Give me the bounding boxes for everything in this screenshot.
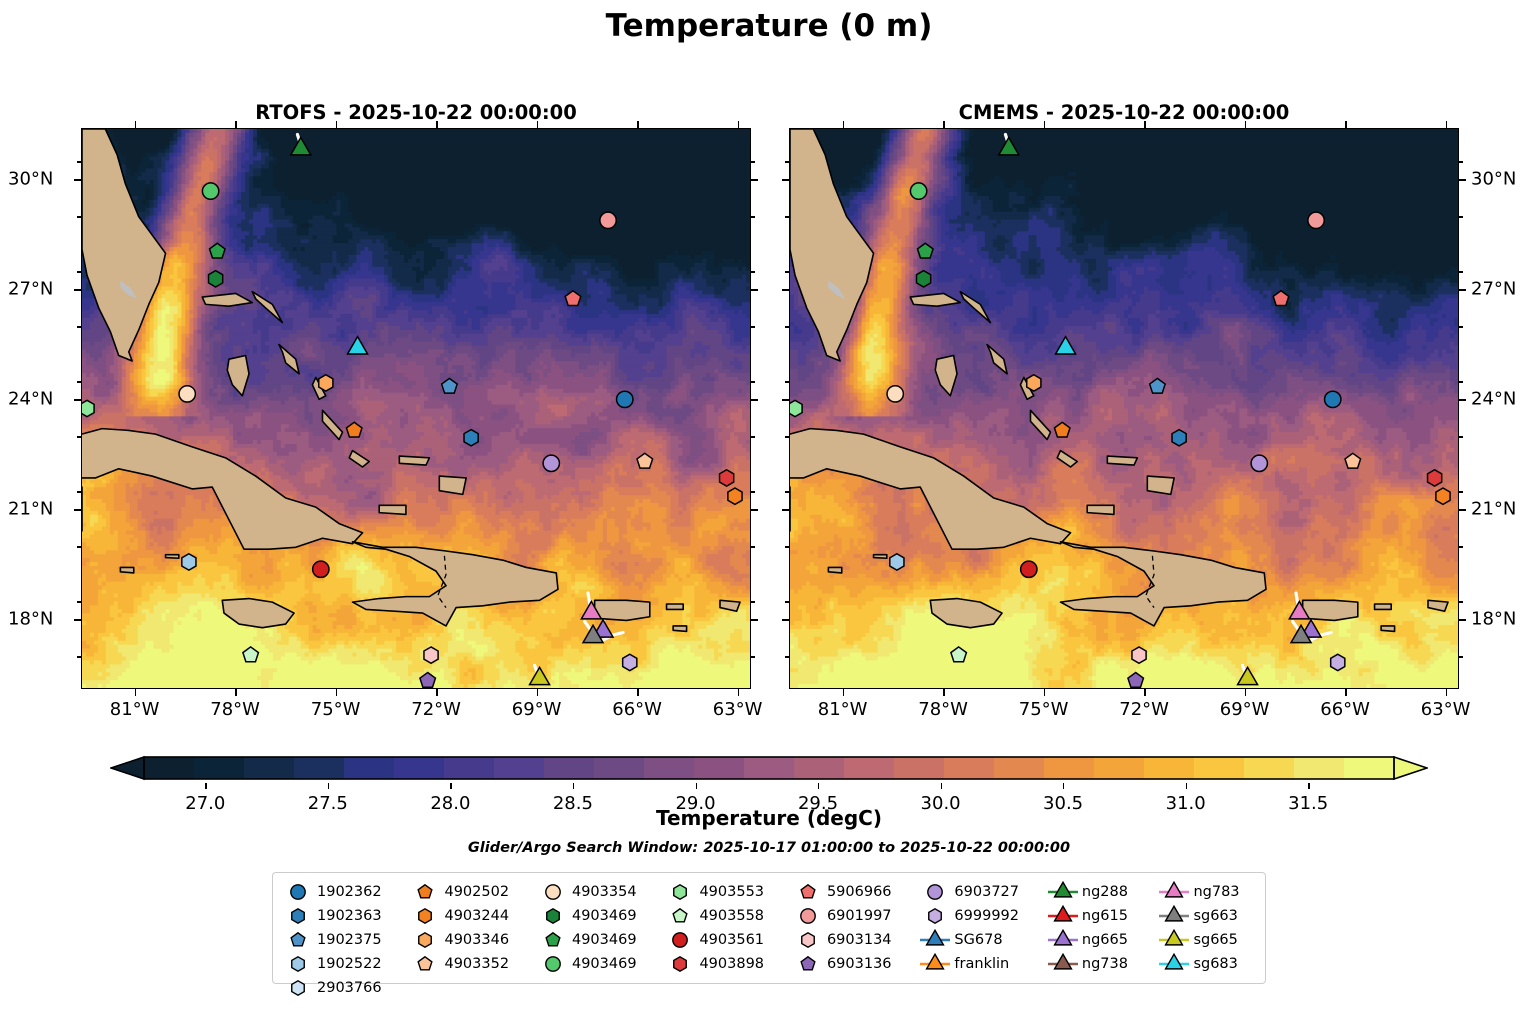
ytick-label: 21°N: [8, 499, 53, 520]
legend-marker-hexagon-icon: [408, 905, 442, 927]
legend-item[interactable]: 6999992: [918, 904, 1045, 928]
legend-item-label: 5906966: [825, 884, 892, 900]
legend-marker-circle-icon: [536, 881, 570, 903]
ytick-right: [1459, 179, 1466, 181]
ytick-label-right: 18°N: [1471, 609, 1516, 630]
legend-item[interactable]: 1902522: [281, 952, 408, 976]
legend-item-label: ng288: [1080, 884, 1128, 900]
legend-marker-circle-icon: [918, 881, 952, 903]
ytick-minor: [785, 656, 789, 658]
legend-column: 4903553 4903558 4903561 4903898: [663, 880, 790, 976]
ytick-minor-right: [1459, 271, 1463, 273]
colorbar-tick: [696, 783, 697, 789]
legend-item[interactable]: 4903898: [663, 952, 790, 976]
ytick-minor: [77, 216, 81, 218]
map-marker: [1132, 647, 1146, 663]
legend-marker-pentagon-icon: [408, 953, 442, 975]
legend-marker-triangle-icon: [1157, 905, 1191, 927]
map-marker: [1021, 561, 1037, 577]
legend-item[interactable]: sg663: [1157, 904, 1257, 928]
map-panel-rtofs[interactable]: RTOFS - 2025-10-22 00:00:00: [81, 128, 751, 689]
legend-marker-pentagon-icon: [791, 881, 825, 903]
legend-item[interactable]: 4903469: [536, 952, 663, 976]
colorbar-tick: [328, 783, 329, 789]
legend-marker-circle-icon: [663, 929, 697, 951]
map-marker: [890, 554, 904, 570]
map-marker: [313, 561, 329, 577]
legend-marker-triangle-icon: [1157, 881, 1191, 903]
xtick-label: 66°W: [612, 699, 662, 720]
ytick-minor: [785, 271, 789, 273]
xtick: [1345, 689, 1347, 696]
ytick-minor-right: [751, 271, 755, 273]
ytick-minor: [785, 546, 789, 548]
legend-item[interactable]: 5906966: [791, 880, 918, 904]
legend-marker-triangle-icon: [1046, 905, 1080, 927]
legend-item[interactable]: franklin: [918, 952, 1045, 976]
map-marker: [600, 212, 616, 228]
map-marker: [179, 386, 195, 402]
map-marker: [720, 470, 734, 486]
search-window-caption: Glider/Argo Search Window: 2025-10-17 01…: [0, 840, 1538, 856]
map-marker: [209, 271, 223, 287]
legend-item-label: 4903244: [442, 908, 509, 924]
ytick-minor: [77, 546, 81, 548]
legend-item-label: 4903561: [697, 932, 764, 948]
legend-item-label: 6903134: [825, 932, 892, 948]
legend-item-label: 4903354: [570, 884, 637, 900]
legend-item[interactable]: 4903469: [536, 904, 663, 928]
xtick-label: 69°W: [1220, 699, 1270, 720]
xtick-top: [1144, 121, 1146, 128]
map-marker: [1027, 375, 1041, 391]
legend-item[interactable]: ng783: [1157, 880, 1257, 904]
legend-marker-triangle-icon: [1157, 929, 1191, 951]
ytick-minor-right: [1459, 161, 1463, 163]
ytick: [74, 289, 81, 291]
map-panel-cmems[interactable]: CMEMS - 2025-10-22 00:00:00: [789, 128, 1459, 689]
panel-title-cmems: CMEMS - 2025-10-22 00:00:00: [789, 101, 1459, 124]
legend-item[interactable]: 2903766: [281, 976, 408, 1000]
ytick-minor: [77, 381, 81, 383]
legend-marker-circle-icon: [281, 881, 315, 903]
legend-item-label: ng665: [1080, 932, 1128, 948]
xtick-label: 66°W: [1320, 699, 1370, 720]
ytick-minor: [785, 436, 789, 438]
ytick-minor-right: [751, 381, 755, 383]
map-marker: [1251, 455, 1267, 471]
xtick: [436, 689, 438, 696]
xtick: [1044, 689, 1046, 696]
ytick-minor-right: [751, 161, 755, 163]
legend-item-label: 6901997: [825, 908, 892, 924]
ytick-right: [1459, 289, 1466, 291]
xtick-label: 63°W: [1421, 699, 1471, 720]
ytick-minor-right: [751, 436, 755, 438]
legend-marker-triangle-icon: [1046, 881, 1080, 903]
map-marker: [464, 430, 478, 446]
ytick-minor: [785, 326, 789, 328]
ytick-label-right: 27°N: [1471, 279, 1516, 300]
legend-marker-hexagon-icon: [791, 929, 825, 951]
legend-item-label: ng615: [1080, 908, 1128, 924]
ytick-minor: [785, 601, 789, 603]
xtick-top: [1446, 121, 1448, 128]
xtick-label: 63°W: [713, 699, 763, 720]
xtick-top: [843, 121, 845, 128]
map-marker: [1308, 212, 1324, 228]
xtick-top: [1345, 121, 1347, 128]
legend-item-label: 1902362: [315, 884, 382, 900]
map-marker: [1331, 654, 1345, 670]
legend-marker-pentagon-icon: [281, 929, 315, 951]
ytick-minor: [785, 381, 789, 383]
legend-column: 5906966 6901997 6903134 6903136: [791, 880, 918, 976]
colorbar-title: Temperature (degC): [0, 806, 1538, 830]
ytick-minor: [77, 601, 81, 603]
ytick-minor-right: [751, 491, 755, 493]
legend-column: ng783 sg663 sg665 sg683: [1157, 880, 1257, 976]
ytick-minor-right: [1459, 326, 1463, 328]
legend-item[interactable]: 4903561: [663, 928, 790, 952]
ytick-label-right: 24°N: [1471, 389, 1516, 410]
legend-column: 6903727 6999992 SG678 franklin: [918, 880, 1045, 976]
xtick-top: [738, 121, 740, 128]
legend-marker-hexagon-icon: [663, 953, 697, 975]
map-marker: [917, 271, 931, 287]
legend-item-label: 1902375: [315, 932, 382, 948]
legend-item[interactable]: 4903553: [663, 880, 790, 904]
legend-item[interactable]: 4903469: [536, 928, 663, 952]
colorbar[interactable]: 27.027.528.028.529.029.530.030.531.031.5: [110, 753, 1428, 783]
legend-marker-hexagon-icon: [408, 929, 442, 951]
map-marker: [202, 183, 218, 199]
ytick-minor-right: [751, 216, 755, 218]
ytick-minor-right: [1459, 491, 1463, 493]
colorbar-tick: [450, 783, 451, 789]
legend-column: 1902362 1902363 1902375 1902522: [281, 880, 408, 1000]
ytick-label-right: 21°N: [1471, 499, 1516, 520]
legend-item[interactable]: 4903558: [663, 904, 790, 928]
legend-item-label: sg683: [1191, 956, 1237, 972]
ytick-minor-right: [1459, 436, 1463, 438]
colorbar-tick: [941, 783, 942, 789]
legend-item-label: 4903469: [570, 932, 637, 948]
legend-item-label: 4903352: [442, 956, 509, 972]
xtick: [1144, 689, 1146, 696]
ytick: [74, 399, 81, 401]
xtick: [537, 689, 539, 696]
xtick-top: [637, 121, 639, 128]
ytick-right: [1459, 509, 1466, 511]
legend-item[interactable]: 4903352: [408, 952, 535, 976]
ytick-label: 24°N: [8, 389, 53, 410]
xtick: [637, 689, 639, 696]
legend-item-label: SG678: [952, 932, 1002, 948]
legend-item-label: 1902363: [315, 908, 382, 924]
legend-item[interactable]: ng738: [1046, 952, 1158, 976]
legend-item[interactable]: sg683: [1157, 952, 1257, 976]
ytick-label: 18°N: [8, 609, 53, 630]
xtick-label: 78°W: [918, 699, 968, 720]
legend-item-label: sg663: [1191, 908, 1237, 924]
map-marker: [790, 400, 802, 416]
map-marker: [887, 386, 903, 402]
ytick-right: [751, 289, 758, 291]
panel-title-rtofs: RTOFS - 2025-10-22 00:00:00: [81, 101, 751, 124]
xtick-label: 69°W: [512, 699, 562, 720]
xtick-label: 75°W: [1019, 699, 1069, 720]
xtick-top: [135, 121, 137, 128]
legend-item-label: 4903553: [697, 884, 764, 900]
ytick-minor: [785, 161, 789, 163]
legend-item[interactable]: 4903244: [408, 904, 535, 928]
legend-item-label: 4903558: [697, 908, 764, 924]
legend[interactable]: 1902362 1902363 1902375 1902522: [272, 872, 1266, 984]
legend-marker-pentagon-icon: [791, 953, 825, 975]
ytick-minor: [77, 161, 81, 163]
legend-column: 4903354 4903469 4903469 4903469: [536, 880, 663, 976]
ytick-minor: [785, 216, 789, 218]
xtick-top: [336, 121, 338, 128]
ytick-minor-right: [751, 601, 755, 603]
legend-marker-hexagon-icon: [281, 977, 315, 999]
ytick-label: 30°N: [8, 169, 53, 190]
legend-item[interactable]: SG678: [918, 928, 1045, 952]
colorbar-tick: [573, 783, 574, 789]
ytick-right: [1459, 619, 1466, 621]
xtick: [1446, 689, 1448, 696]
legend-item[interactable]: 6901997: [791, 904, 918, 928]
ytick-minor-right: [1459, 216, 1463, 218]
legend-item-label: 6903727: [952, 884, 1019, 900]
xtick: [843, 689, 845, 696]
ytick: [74, 619, 81, 621]
legend-item-label: 4903898: [697, 956, 764, 972]
ytick: [782, 619, 789, 621]
ytick-minor: [77, 491, 81, 493]
legend-item[interactable]: 1902375: [281, 928, 408, 952]
legend-item[interactable]: 4902502: [408, 880, 535, 904]
xtick: [135, 689, 137, 696]
legend-marker-triangle-icon: [918, 929, 952, 951]
legend-item-label: 6903136: [825, 956, 892, 972]
map-marker: [82, 400, 94, 416]
xtick: [943, 689, 945, 696]
legend-marker-hexagon-icon: [281, 953, 315, 975]
xtick-label: 81°W: [818, 699, 868, 720]
legend-marker-pentagon-icon: [536, 929, 570, 951]
ytick-right: [751, 509, 758, 511]
ytick-minor: [77, 436, 81, 438]
xtick-label: 78°W: [210, 699, 260, 720]
xtick: [235, 689, 237, 696]
legend-marker-triangle-icon: [1046, 953, 1080, 975]
xtick-label: 72°W: [411, 699, 461, 720]
legend-marker-triangle-icon: [1157, 953, 1191, 975]
legend-item-label: 4903346: [442, 932, 509, 948]
xtick: [1245, 689, 1247, 696]
ytick: [782, 289, 789, 291]
xtick-top: [235, 121, 237, 128]
legend-marker-circle-icon: [536, 953, 570, 975]
ytick-minor-right: [1459, 546, 1463, 548]
legend-column: 4902502 4903244 4903346 4903352: [408, 880, 535, 976]
ytick: [782, 399, 789, 401]
ytick-minor-right: [751, 326, 755, 328]
legend-marker-triangle-icon: [1046, 929, 1080, 951]
legend-marker-circle-icon: [791, 905, 825, 927]
legend-item-label: franklin: [952, 956, 1009, 972]
ytick-minor-right: [751, 656, 755, 658]
ytick-minor: [77, 656, 81, 658]
ytick-label-right: 30°N: [1471, 169, 1516, 190]
legend-item-label: 4903469: [570, 956, 637, 972]
map-marker: [623, 654, 637, 670]
map-marker: [1428, 470, 1442, 486]
xtick: [738, 689, 740, 696]
map-marker: [910, 183, 926, 199]
map-marker: [543, 455, 559, 471]
legend-item-label: ng783: [1191, 884, 1239, 900]
map-canvas-rtofs[interactable]: [81, 128, 751, 689]
legend-item[interactable]: ng288: [1046, 880, 1158, 904]
ytick-label: 27°N: [8, 279, 53, 300]
ytick-minor: [77, 326, 81, 328]
legend-item[interactable]: 1902362: [281, 880, 408, 904]
legend-marker-pentagon-icon: [408, 881, 442, 903]
page-title: Temperature (0 m): [0, 8, 1538, 44]
legend-item-label: 6999992: [952, 908, 1019, 924]
xtick-label: 72°W: [1119, 699, 1169, 720]
xtick-top: [537, 121, 539, 128]
legend-item-label: 1902522: [315, 956, 382, 972]
legend-item[interactable]: 6903136: [791, 952, 918, 976]
colorbar-tick: [1063, 783, 1064, 789]
ytick: [782, 509, 789, 511]
legend-marker-hexagon-icon: [536, 905, 570, 927]
legend-marker-triangle-icon: [918, 953, 952, 975]
colorbar-tick: [1186, 783, 1187, 789]
map-marker: [617, 391, 633, 407]
colorbar-tick: [1308, 783, 1309, 789]
legend-item-label: 4903469: [570, 908, 637, 924]
legend-item[interactable]: ng615: [1046, 904, 1158, 928]
legend-item[interactable]: 4903354: [536, 880, 663, 904]
ytick-minor: [785, 491, 789, 493]
ytick-right: [751, 179, 758, 181]
xtick-label: 75°W: [311, 699, 361, 720]
legend-item-label: 2903766: [315, 980, 382, 996]
ytick-minor: [77, 271, 81, 273]
ytick-minor-right: [1459, 656, 1463, 658]
ytick-minor-right: [751, 546, 755, 548]
legend-item-label: 4902502: [442, 884, 509, 900]
colorbar-tick: [205, 783, 206, 789]
legend-marker-hexagon-icon: [918, 905, 952, 927]
ytick-minor-right: [1459, 381, 1463, 383]
xtick-top: [1245, 121, 1247, 128]
legend-item[interactable]: 4903346: [408, 928, 535, 952]
map-marker: [1325, 391, 1341, 407]
ytick: [74, 179, 81, 181]
ytick-minor-right: [1459, 601, 1463, 603]
map-marker: [424, 647, 438, 663]
legend-marker-pentagon-icon: [663, 905, 697, 927]
xtick-top: [943, 121, 945, 128]
legend-item[interactable]: 6903727: [918, 880, 1045, 904]
ytick-right: [751, 399, 758, 401]
ytick-right: [1459, 399, 1466, 401]
map-marker: [182, 554, 196, 570]
map-marker: [728, 488, 742, 504]
legend-marker-hexagon-icon: [281, 905, 315, 927]
legend-item-label: sg665: [1191, 932, 1237, 948]
ytick-right: [751, 619, 758, 621]
map-marker: [1436, 488, 1450, 504]
legend-item[interactable]: 6903134: [791, 928, 918, 952]
map-marker: [1172, 430, 1186, 446]
xtick: [336, 689, 338, 696]
xtick-label: 81°W: [110, 699, 160, 720]
legend-column: ng288 ng615 ng665 ng738: [1046, 880, 1158, 976]
legend-item[interactable]: 1902363: [281, 904, 408, 928]
ytick: [782, 179, 789, 181]
ytick: [74, 509, 81, 511]
xtick-top: [1044, 121, 1046, 128]
legend-item[interactable]: ng665: [1046, 928, 1158, 952]
xtick-top: [436, 121, 438, 128]
legend-marker-hexagon-icon: [663, 881, 697, 903]
map-canvas-cmems[interactable]: [789, 128, 1459, 689]
legend-item[interactable]: sg665: [1157, 928, 1257, 952]
map-marker: [319, 375, 333, 391]
legend-item-label: ng738: [1080, 956, 1128, 972]
colorbar-tick: [818, 783, 819, 789]
